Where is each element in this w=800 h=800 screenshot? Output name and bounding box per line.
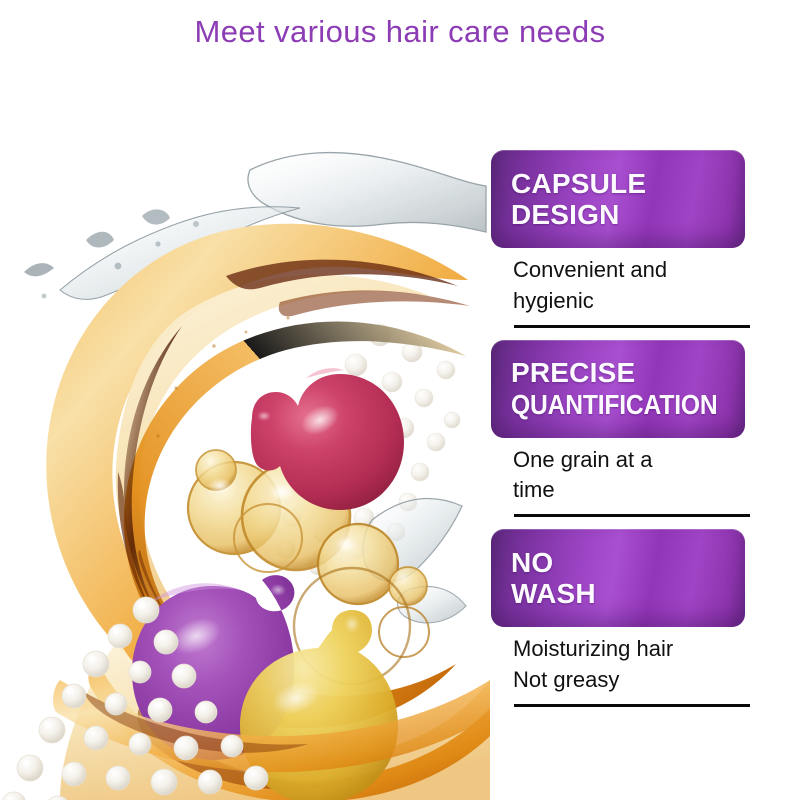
badge-line: PRECISE <box>511 357 745 388</box>
feature-description: Moisturizing hair Not greasy <box>491 627 745 707</box>
hero-product-illustration <box>0 120 490 800</box>
description-line: One grain at a <box>513 445 745 476</box>
feature-badge-no-wash[interactable]: NO WASH <box>491 529 745 627</box>
description-line: Not greasy <box>513 665 745 696</box>
feature-description: Convenient and hygienic <box>491 248 745 328</box>
badge-line: QUANTIFICATION <box>511 389 717 420</box>
section-divider <box>514 325 750 328</box>
page-title: Meet various hair care needs <box>0 14 800 50</box>
feature-item-capsule-design: CAPSULE DESIGN Convenient and hygienic <box>491 150 771 328</box>
badge-line: DESIGN <box>511 199 745 230</box>
feature-item-no-wash: NO WASH Moisturizing hair Not greasy <box>491 529 771 707</box>
description-line: Convenient and <box>513 255 745 286</box>
badge-line: NO <box>511 547 745 578</box>
description-line: Moisturizing hair <box>513 634 745 665</box>
feature-description: One grain at a time <box>491 438 745 518</box>
description-line: time <box>513 475 745 506</box>
section-divider <box>514 514 750 517</box>
feature-item-precise-quantification: PRECISE QUANTIFICATION One grain at a ti… <box>491 340 771 518</box>
description-line: hygienic <box>513 286 745 317</box>
section-divider <box>514 704 750 707</box>
feature-list: CAPSULE DESIGN Convenient and hygienic P… <box>491 150 771 719</box>
feature-badge-precise-quantification[interactable]: PRECISE QUANTIFICATION <box>491 340 745 438</box>
badge-line: WASH <box>511 578 745 609</box>
badge-line: CAPSULE <box>511 168 745 199</box>
feature-badge-capsule-design[interactable]: CAPSULE DESIGN <box>491 150 745 248</box>
